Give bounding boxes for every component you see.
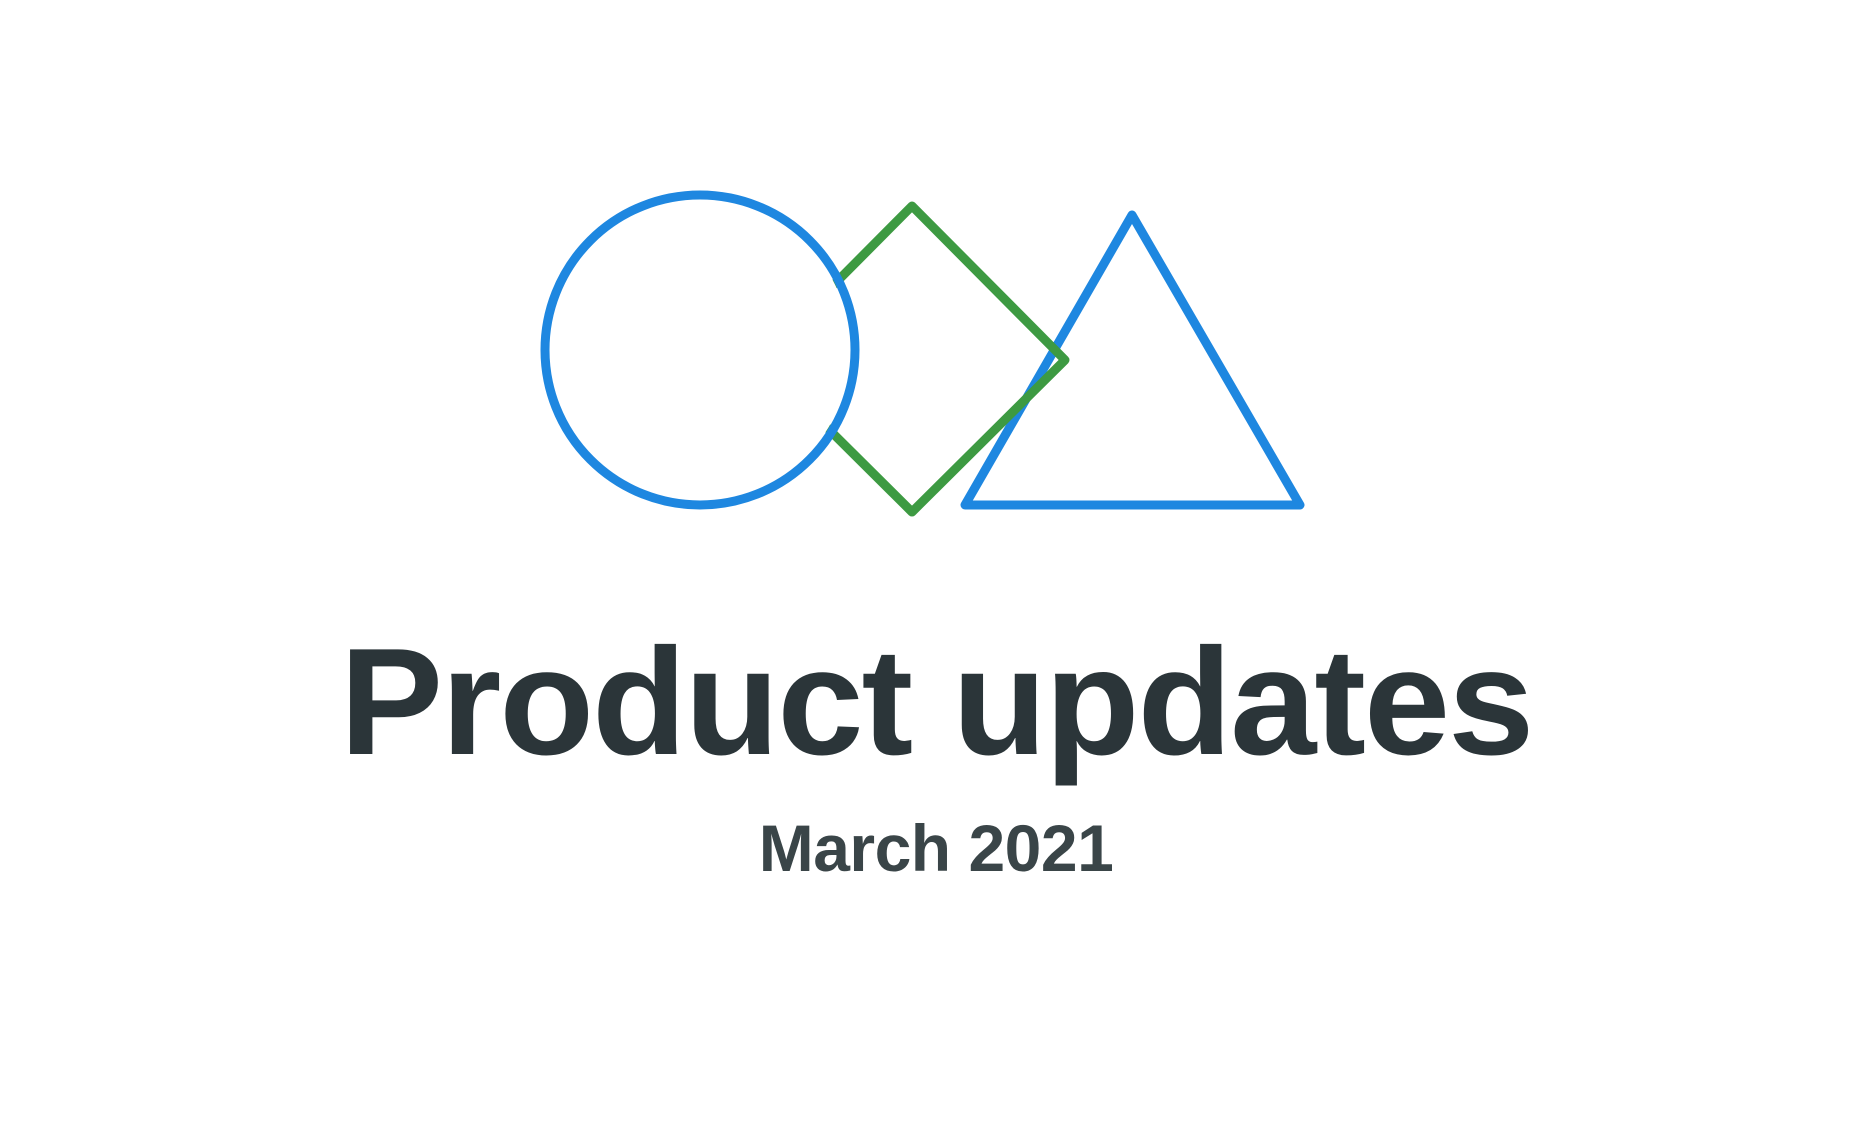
hero-text-block: Product updates March 2021 bbox=[0, 620, 1872, 885]
slide-canvas: Product updates March 2021 bbox=[0, 0, 1872, 1142]
triangle-outline-icon bbox=[965, 215, 1300, 505]
circle-outline-icon bbox=[545, 195, 855, 505]
logo-mark bbox=[0, 0, 1872, 620]
page-title: Product updates bbox=[0, 620, 1872, 785]
page-subtitle: March 2021 bbox=[0, 811, 1872, 885]
